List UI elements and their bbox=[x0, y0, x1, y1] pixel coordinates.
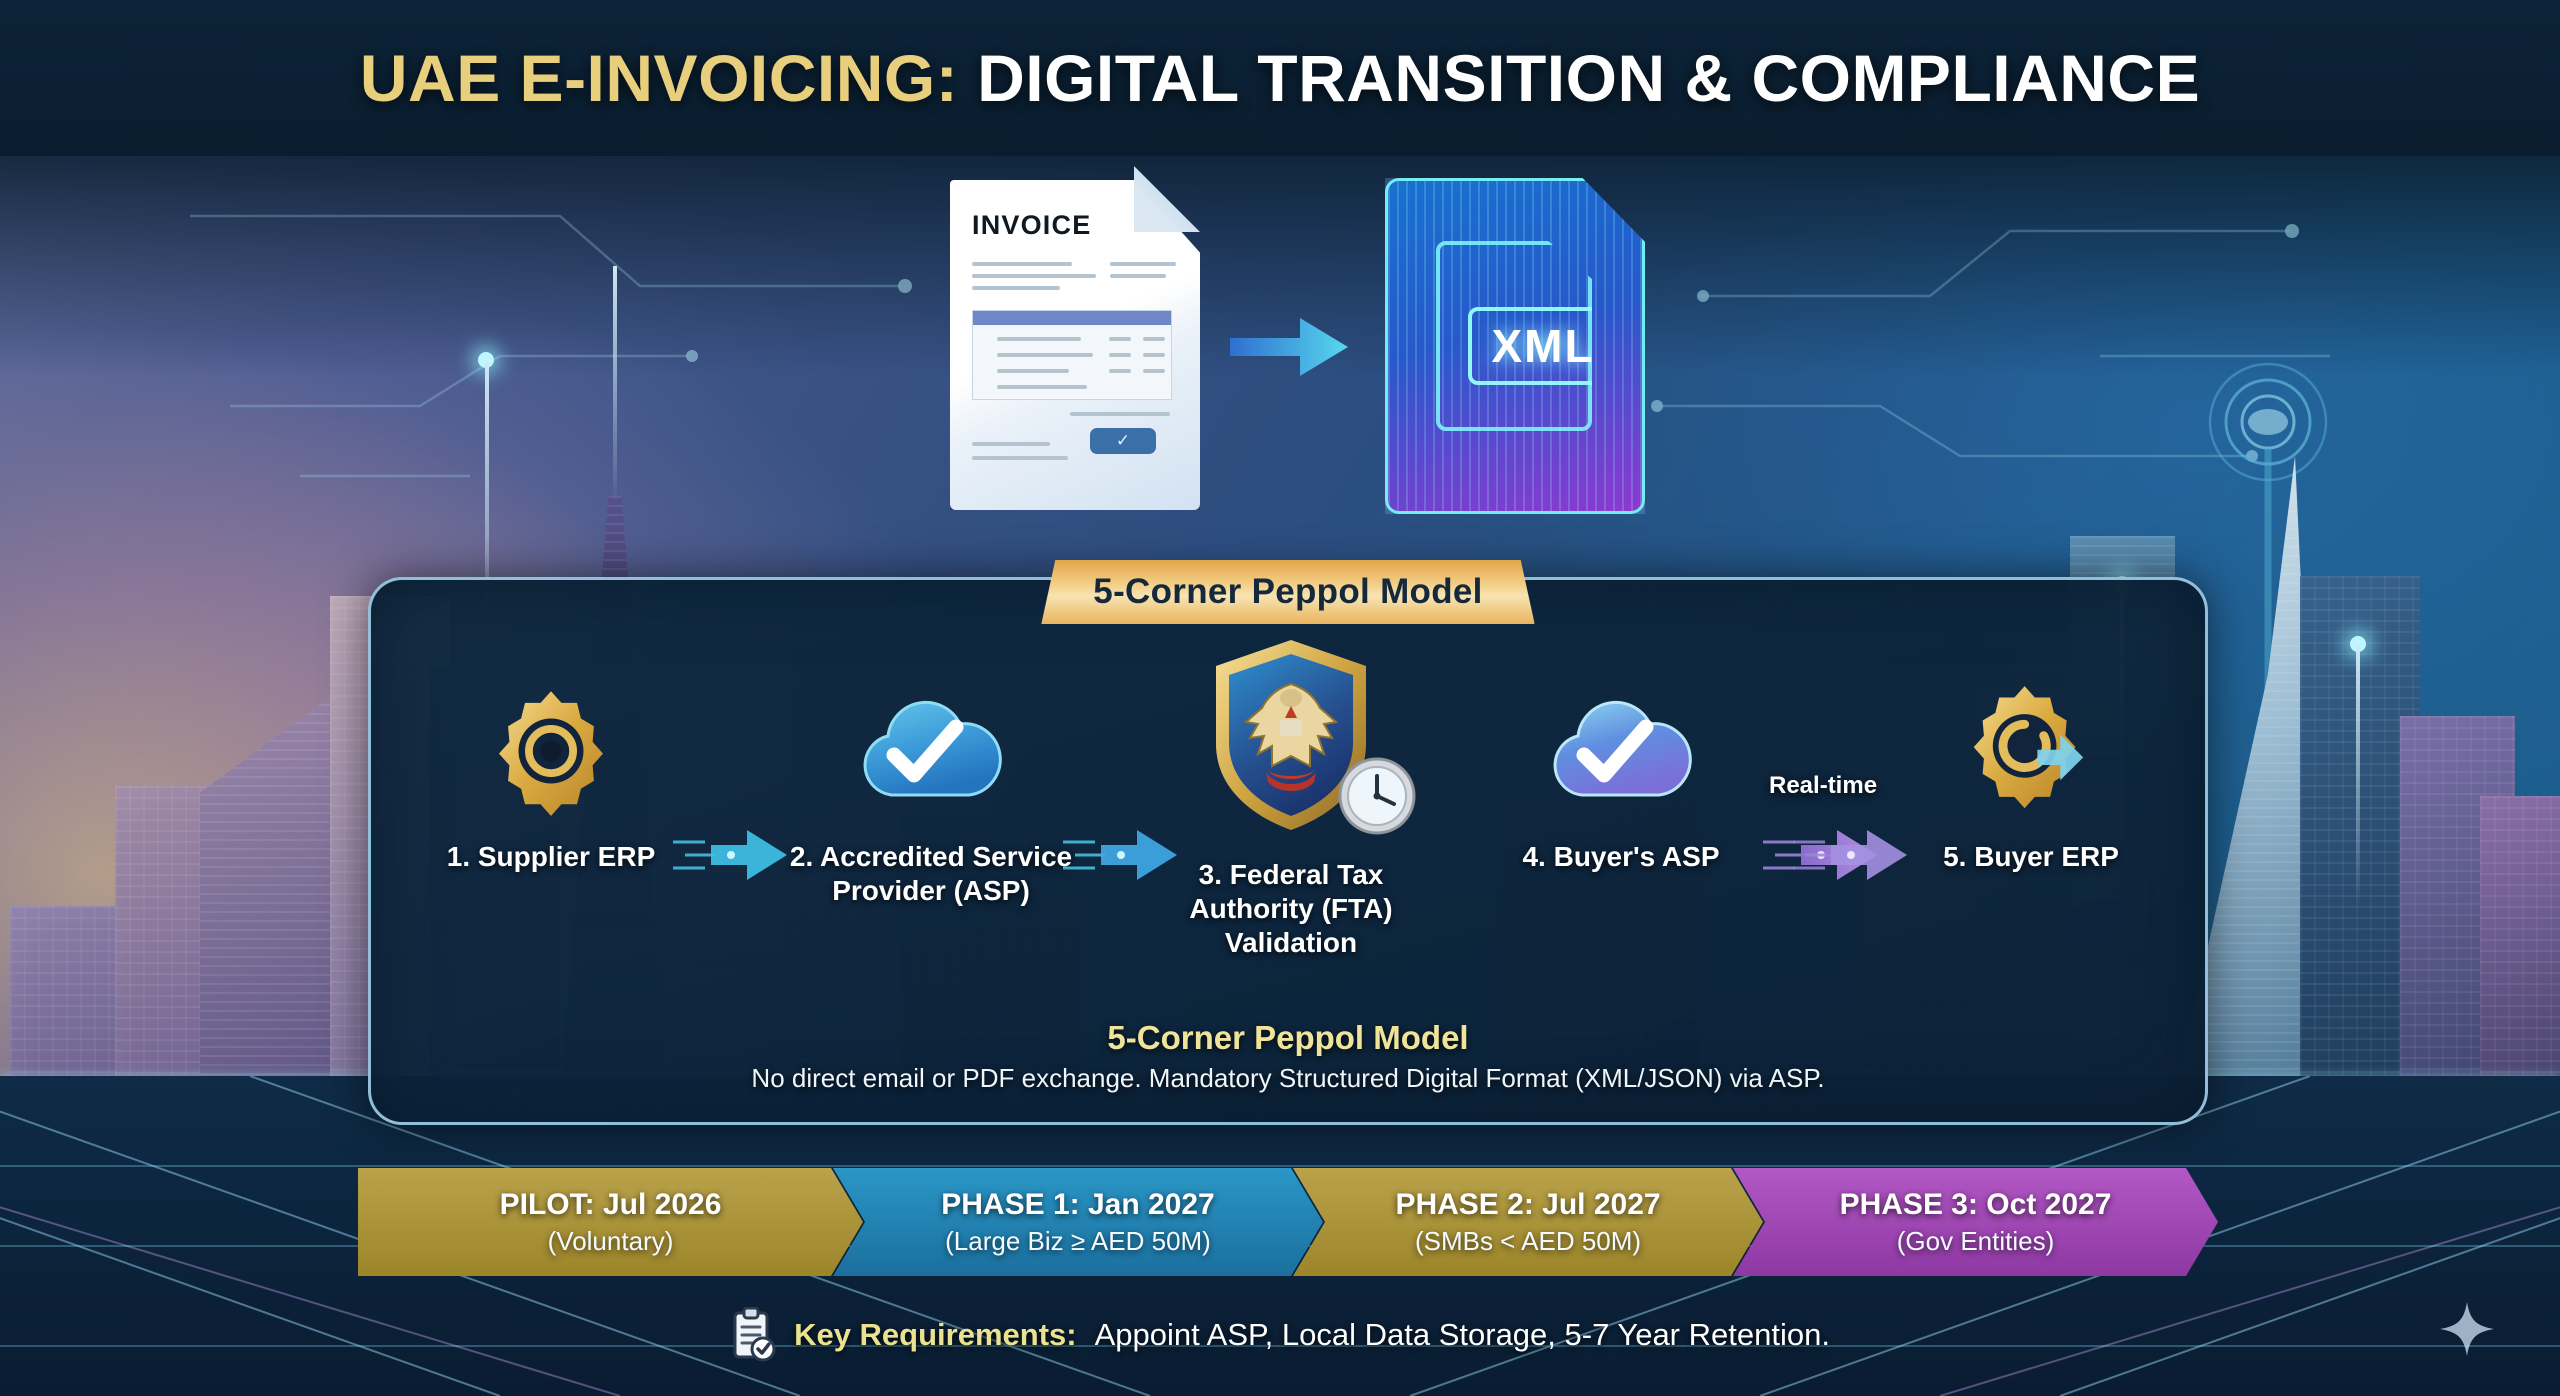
rollout-timeline: PILOT: Jul 2026 (Voluntary) PHASE 1: Jan… bbox=[358, 1168, 2218, 1276]
process-steps: 1. Supplier ERP bbox=[371, 676, 2205, 966]
peppol-model-panel: 5-Corner Peppol Model bbox=[368, 577, 2208, 1125]
step-label: 4. Buyer's ASP bbox=[1471, 840, 1771, 874]
step-buyers-asp[interactable]: 4. Buyer's ASP bbox=[1471, 676, 1771, 874]
antenna bbox=[613, 266, 617, 506]
timeline-phase-1[interactable]: PHASE 1: Jan 2027 (Large Biz ≥ AED 50M) bbox=[833, 1168, 1323, 1276]
invoice-to-xml-graphic: INVOICE bbox=[930, 166, 1670, 526]
step-supplier-erp[interactable]: 1. Supplier ERP bbox=[401, 676, 701, 874]
building bbox=[2480, 796, 2560, 1096]
panel-banner: 5-Corner Peppol Model bbox=[1041, 560, 1534, 624]
sparkle-icon bbox=[2440, 1302, 2494, 1356]
key-requirements-bar: Key Requirements: Appoint ASP, Local Dat… bbox=[0, 1300, 2560, 1370]
xml-file-icon: XML bbox=[1385, 178, 1645, 514]
step-label: 3. Federal Tax Authority (FTA) Validatio… bbox=[1141, 858, 1441, 960]
title-white-part: DIGITAL TRANSITION & COMPLIANCE bbox=[977, 41, 2200, 115]
invoice-label: INVOICE bbox=[972, 210, 1091, 241]
step-fta-validation[interactable]: 3. Federal Tax Authority (FTA) Validatio… bbox=[1141, 636, 1441, 960]
panel-footer: 5-Corner Peppol Model No direct email or… bbox=[371, 1019, 2205, 1094]
clock-icon bbox=[1337, 756, 1417, 836]
antenna bbox=[2356, 646, 2360, 906]
gear-refresh-icon bbox=[1881, 676, 2181, 826]
cloud-check-icon bbox=[1471, 676, 1771, 826]
timeline-title: PILOT: Jul 2026 bbox=[500, 1188, 722, 1222]
timeline-subtitle: (Large Biz ≥ AED 50M) bbox=[945, 1226, 1211, 1257]
connector-arrow-icon bbox=[671, 824, 791, 886]
timeline-title: PHASE 1: Jan 2027 bbox=[941, 1188, 1214, 1222]
panel-banner-label: 5-Corner Peppol Model bbox=[1093, 572, 1482, 612]
page-fold bbox=[1134, 166, 1200, 232]
step-accredited-service-provider[interactable]: 2. Accredited Service Provider (ASP) bbox=[781, 676, 1081, 908]
timeline-phase-3[interactable]: PHASE 3: Oct 2027 (Gov Entities) bbox=[1733, 1168, 2218, 1276]
panel-footer-heading: 5-Corner Peppol Model bbox=[371, 1019, 2205, 1057]
step-label: 5. Buyer ERP bbox=[1881, 840, 2181, 874]
timeline-title: PHASE 2: Jul 2027 bbox=[1395, 1188, 1660, 1222]
infographic-canvas: UAE E-INVOICING: DIGITAL TRANSITION & CO… bbox=[0, 0, 2560, 1396]
panel-footer-note: No direct email or PDF exchange. Mandato… bbox=[371, 1063, 2205, 1094]
step-label: 1. Supplier ERP bbox=[401, 840, 701, 874]
realtime-label: Real-time bbox=[1769, 772, 1877, 800]
page-title: UAE E-INVOICING: DIGITAL TRANSITION & CO… bbox=[360, 40, 2200, 116]
key-requirements-label: Key Requirements: bbox=[794, 1317, 1077, 1353]
clipboard-check-icon bbox=[730, 1307, 776, 1363]
key-requirements-text: Appoint ASP, Local Data Storage, 5-7 Yea… bbox=[1095, 1317, 1830, 1353]
timeline-title: PHASE 3: Oct 2027 bbox=[1840, 1188, 2112, 1222]
title-gold-part: UAE E-INVOICING: bbox=[360, 41, 958, 115]
header-bar: UAE E-INVOICING: DIGITAL TRANSITION & CO… bbox=[0, 0, 2560, 156]
step-buyer-erp[interactable]: 5. Buyer ERP bbox=[1881, 676, 2181, 874]
timeline-phase-pilot[interactable]: PILOT: Jul 2026 (Voluntary) bbox=[358, 1168, 863, 1276]
gear-icon bbox=[401, 676, 701, 826]
timeline-subtitle: (Voluntary) bbox=[548, 1226, 674, 1257]
timeline-phase-2[interactable]: PHASE 2: Jul 2027 (SMBs < AED 50M) bbox=[1293, 1168, 1763, 1276]
invoice-table bbox=[972, 310, 1172, 400]
step-label: 2. Accredited Service Provider (ASP) bbox=[781, 840, 1081, 908]
verified-stamp-icon: ✓ bbox=[1090, 428, 1156, 454]
timeline-subtitle: (SMBs < AED 50M) bbox=[1415, 1226, 1641, 1257]
right-arrow-icon bbox=[1230, 314, 1350, 380]
timeline-subtitle: (Gov Entities) bbox=[1897, 1226, 2055, 1257]
cloud-check-icon bbox=[781, 676, 1081, 826]
